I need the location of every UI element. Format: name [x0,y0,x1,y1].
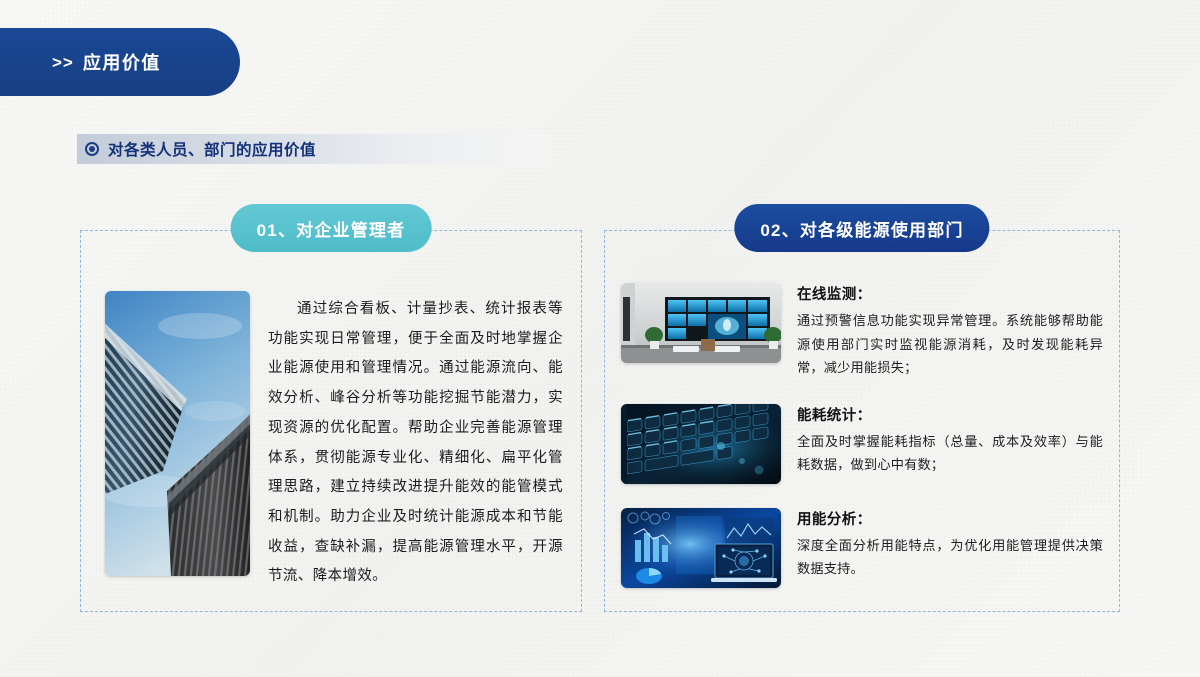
section-header: 对各类人员、部门的应用价值 [77,134,549,164]
feature-title: 能耗统计： [797,404,1103,425]
feature-text: 用能分析： 深度全面分析用能特点，为优化用能管理提供决策数据支持。 [797,508,1103,581]
feature-item: 用能分析： 深度全面分析用能特点，为优化用能管理提供决策数据支持。 [621,508,1103,588]
data-analytics-dashboard-photo [621,508,781,588]
feature-desc: 全面及时掌握能耗指标（总量、成本及效率）与能耗数据，做到心中有数； [797,430,1103,477]
card-enterprise-managers: 01、对企业管理者 [80,230,582,612]
section-title: 对各类人员、部门的应用价值 [108,138,316,160]
feature-text: 能耗统计： 全面及时掌握能耗指标（总量、成本及效率）与能耗数据，做到心中有数； [797,404,1103,477]
card-01-paragraph: 通过综合看板、计量抄表、统计报表等功能实现日常管理，便于全面及时地掌握企业能源使… [268,291,563,581]
control-room-video-wall-photo [621,283,781,363]
feature-text: 在线监测： 通过预警信息功能实现异常管理。系统能够帮助能源使用部门实时监视能源消… [797,283,1103,380]
skyscrapers-photo [105,291,250,576]
bullseye-icon [85,142,99,156]
feature-item: 能耗统计： 全面及时掌握能耗指标（总量、成本及效率）与能耗数据，做到心中有数； [621,404,1103,484]
chevron-right-double-icon: >> [52,54,74,71]
feature-title: 用能分析： [797,508,1103,529]
page-title-banner: >> 应用价值 [0,28,240,96]
feature-item: 在线监测： 通过预警信息功能实现异常管理。系统能够帮助能源使用部门实时监视能源消… [621,283,1103,380]
page-title: 应用价值 [83,49,161,75]
card-02-body: 在线监测： 通过预警信息功能实现异常管理。系统能够帮助能源使用部门实时监视能源消… [605,231,1119,611]
feature-title: 在线监测： [797,283,1103,304]
card-energy-departments: 02、对各级能源使用部门 [604,230,1120,612]
backlit-keyboard-photo [621,404,781,484]
card-01-body: 通过综合看板、计量抄表、统计报表等功能实现日常管理，便于全面及时地掌握企业能源使… [81,231,581,611]
feature-desc: 深度全面分析用能特点，为优化用能管理提供决策数据支持。 [797,534,1103,581]
feature-desc: 通过预警信息功能实现异常管理。系统能够帮助能源使用部门实时监视能源消耗，及时发现… [797,309,1103,380]
